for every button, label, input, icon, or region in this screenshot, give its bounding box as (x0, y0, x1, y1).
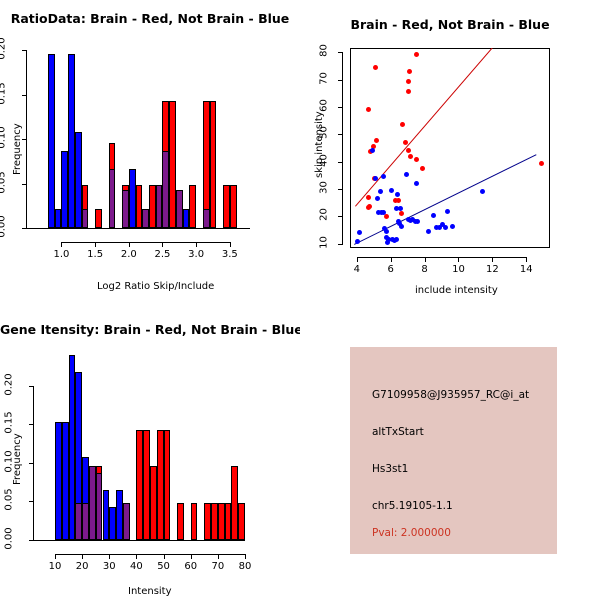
histogram-bar (223, 185, 230, 228)
histogram-bar (204, 503, 211, 540)
histogram-bar (68, 54, 75, 228)
histogram-bar-overlap (176, 190, 183, 228)
figure-canvas: RatioData: Brain - Red, Not Brain - Blue… (0, 0, 600, 600)
x-tick-mark (458, 257, 459, 262)
histogram-bar-overlap (75, 503, 82, 540)
scatter-point (367, 204, 372, 209)
histogram-bar-overlap (142, 209, 149, 228)
y-tick-mark (338, 244, 343, 245)
gene-info-line: Hs3st1 (372, 463, 408, 475)
scatter-point (400, 122, 405, 127)
y-tick-mark (22, 139, 27, 140)
histogram-bar (62, 422, 69, 540)
y-tick-mark (22, 228, 27, 229)
x-tick-mark (357, 257, 358, 262)
scatter-point (389, 188, 394, 193)
histogram-baseline (26, 228, 250, 229)
ratio-histogram-plot-area: 0.000.050.100.150.201.01.52.02.53.03.5 (0, 0, 300, 300)
x-tick-mark (162, 242, 163, 247)
histogram-bar (136, 185, 143, 228)
y-axis-line (342, 52, 343, 244)
histogram-bar (225, 503, 232, 540)
scatter-point (414, 52, 419, 57)
scatter-point (406, 89, 411, 94)
histogram-bar-overlap (96, 473, 103, 540)
x-tick-mark (391, 257, 392, 262)
y-tick-mark (338, 189, 343, 190)
scatter-point (370, 148, 375, 153)
scatter-point (398, 206, 403, 211)
y-tick-mark (22, 184, 27, 185)
histogram-bar (143, 430, 150, 540)
gene-info-line: chr5.19105-1.1 (372, 500, 453, 512)
histogram-bar (218, 503, 225, 540)
histogram-bar (103, 490, 110, 540)
y-tick-mark (29, 463, 34, 464)
histogram-bar (231, 466, 238, 540)
y-tick-label: 0.20 (0, 33, 8, 65)
histogram-bar (189, 185, 196, 228)
panel-gene-intensity-histogram: Gene Itensity: Brain - Red, Not Brain - … (0, 300, 300, 600)
panel-ratio-histogram: RatioData: Brain - Red, Not Brain - Blue… (0, 0, 300, 300)
y-tick-label: 0.05 (4, 484, 15, 516)
x-tick-mark (136, 554, 137, 559)
y-tick-mark (22, 50, 27, 51)
histogram-bar (55, 209, 62, 228)
gene-histogram-plot-area: 0.000.050.100.150.201020304050607080 (0, 300, 300, 600)
y-tick-label: 0.15 (0, 77, 8, 109)
histogram-bar (150, 466, 157, 540)
x-tick-mark (218, 554, 219, 559)
x-tick-label: 14 (506, 264, 546, 275)
y-tick-label: 30 (319, 176, 330, 200)
histogram-bar (210, 101, 217, 228)
histogram-bar (48, 54, 55, 228)
scatter-point (357, 230, 362, 235)
panel-intensity-scatter: Brain - Red, Not Brain - Blue skip inten… (300, 0, 600, 300)
x-tick-label: 3.5 (210, 249, 250, 260)
x-tick-label: 80 (225, 561, 265, 572)
x-tick-mark (230, 242, 231, 247)
x-tick-mark (61, 242, 62, 247)
scatter-point (395, 192, 400, 197)
y-tick-label: 0.15 (4, 407, 15, 439)
scatter-point (378, 189, 383, 194)
y-tick-mark (338, 80, 343, 81)
gene-info-line: Pval: 2.000000 (372, 527, 451, 539)
y-tick-mark (22, 95, 27, 96)
scatter-point (414, 181, 419, 186)
histogram-bar (230, 185, 237, 228)
scatter-point (374, 138, 379, 143)
x-tick-mark (492, 257, 493, 262)
histogram-bar (55, 422, 62, 540)
y-tick-label: 60 (319, 93, 330, 117)
x-axis-line (61, 242, 229, 243)
histogram-bar (169, 101, 176, 228)
scatter-plot-area: 1020304050607080468101214 (300, 0, 600, 300)
scatter-point (443, 225, 448, 230)
x-tick-mark (245, 554, 246, 559)
scatter-point (373, 65, 378, 70)
histogram-bar-overlap (162, 151, 169, 228)
x-tick-mark (526, 257, 527, 262)
y-tick-mark (29, 424, 34, 425)
histogram-bar (136, 430, 143, 540)
y-tick-mark (29, 501, 34, 502)
scatter-point (539, 161, 544, 166)
y-tick-label: 80 (319, 39, 330, 63)
y-tick-label: 50 (319, 121, 330, 145)
histogram-bar (116, 490, 123, 540)
scatter-point (420, 166, 425, 171)
scatter-point (381, 174, 386, 179)
scatter-point (394, 237, 399, 242)
y-tick-label: 0.10 (4, 445, 15, 477)
y-tick-label: 0.20 (4, 368, 15, 400)
histogram-baseline (33, 540, 245, 541)
scatter-point (450, 224, 455, 229)
scatter-point (399, 224, 404, 229)
scatter-point (366, 195, 371, 200)
scatter-point (366, 107, 371, 112)
y-tick-label: 0.10 (0, 122, 8, 154)
x-tick-mark (55, 554, 56, 559)
y-tick-label: 70 (319, 66, 330, 90)
histogram-bar (69, 355, 76, 540)
y-tick-mark (338, 52, 343, 53)
scatter-point (480, 189, 485, 194)
x-tick-mark (164, 554, 165, 559)
histogram-bar-overlap (122, 190, 129, 228)
y-tick-mark (338, 134, 343, 135)
y-tick-label: 10 (319, 230, 330, 254)
scatter-point (355, 239, 360, 244)
scatter-point (426, 229, 431, 234)
y-tick-mark (338, 162, 343, 163)
y-tick-label: 20 (319, 203, 330, 227)
histogram-bar (238, 503, 245, 540)
histogram-bar (191, 503, 198, 540)
x-tick-mark (196, 242, 197, 247)
histogram-bar-overlap (123, 503, 130, 540)
scatter-point (415, 219, 420, 224)
histogram-bar (61, 151, 68, 228)
scatter-point (399, 211, 404, 216)
scatter-point (408, 154, 413, 159)
x-tick-mark (129, 242, 130, 247)
x-tick-mark (109, 554, 110, 559)
y-tick-mark (29, 540, 34, 541)
histogram-bar (129, 169, 136, 228)
scatter-point (404, 172, 409, 177)
histogram-bar (157, 430, 164, 540)
gene-info-box: G7109958@J935957_RC@i_ataltTxStartHs3st1… (350, 347, 557, 554)
x-tick-mark (95, 242, 96, 247)
histogram-bar (149, 185, 156, 228)
scatter-point (406, 79, 411, 84)
histogram-bar (109, 507, 116, 540)
scatter-point (445, 209, 450, 214)
histogram-bar (177, 503, 184, 540)
regression-line (355, 48, 493, 206)
scatter-point (373, 176, 378, 181)
scatter-point (384, 229, 389, 234)
regression-line (354, 154, 537, 245)
panel-gene-info: G7109958@J935957_RC@i_ataltTxStartHs3st1… (300, 300, 600, 600)
y-tick-mark (29, 386, 34, 387)
histogram-bar (211, 503, 218, 540)
scatter-point (396, 198, 401, 203)
scatter-point (407, 69, 412, 74)
y-tick-mark (338, 107, 343, 108)
scatter-point (375, 196, 380, 201)
histogram-bar (75, 132, 82, 228)
y-tick-label: 0.00 (4, 523, 15, 555)
x-tick-mark (191, 554, 192, 559)
histogram-bar-overlap (89, 466, 96, 540)
y-tick-label: 40 (319, 148, 330, 172)
scatter-clip (350, 48, 550, 248)
scatter-point (414, 157, 419, 162)
x-axis-line (357, 257, 526, 258)
histogram-bar (164, 430, 171, 540)
y-tick-label: 0.00 (0, 211, 8, 243)
scatter-point (406, 148, 411, 153)
y-tick-label: 0.05 (0, 166, 8, 198)
histogram-bar-overlap (203, 209, 210, 228)
histogram-bar (183, 209, 190, 228)
x-tick-mark (82, 554, 83, 559)
histogram-bar-overlap (109, 169, 116, 228)
histogram-bar-overlap (82, 209, 89, 228)
histogram-bar (95, 209, 102, 228)
x-tick-mark (425, 257, 426, 262)
y-tick-mark (338, 216, 343, 217)
histogram-bar-overlap (156, 185, 163, 228)
scatter-point (431, 213, 436, 218)
gene-info-line: G7109958@J935957_RC@i_at (372, 389, 529, 401)
histogram-bar-overlap (82, 503, 89, 540)
gene-info-line: altTxStart (372, 426, 424, 438)
x-axis-line (55, 554, 245, 555)
